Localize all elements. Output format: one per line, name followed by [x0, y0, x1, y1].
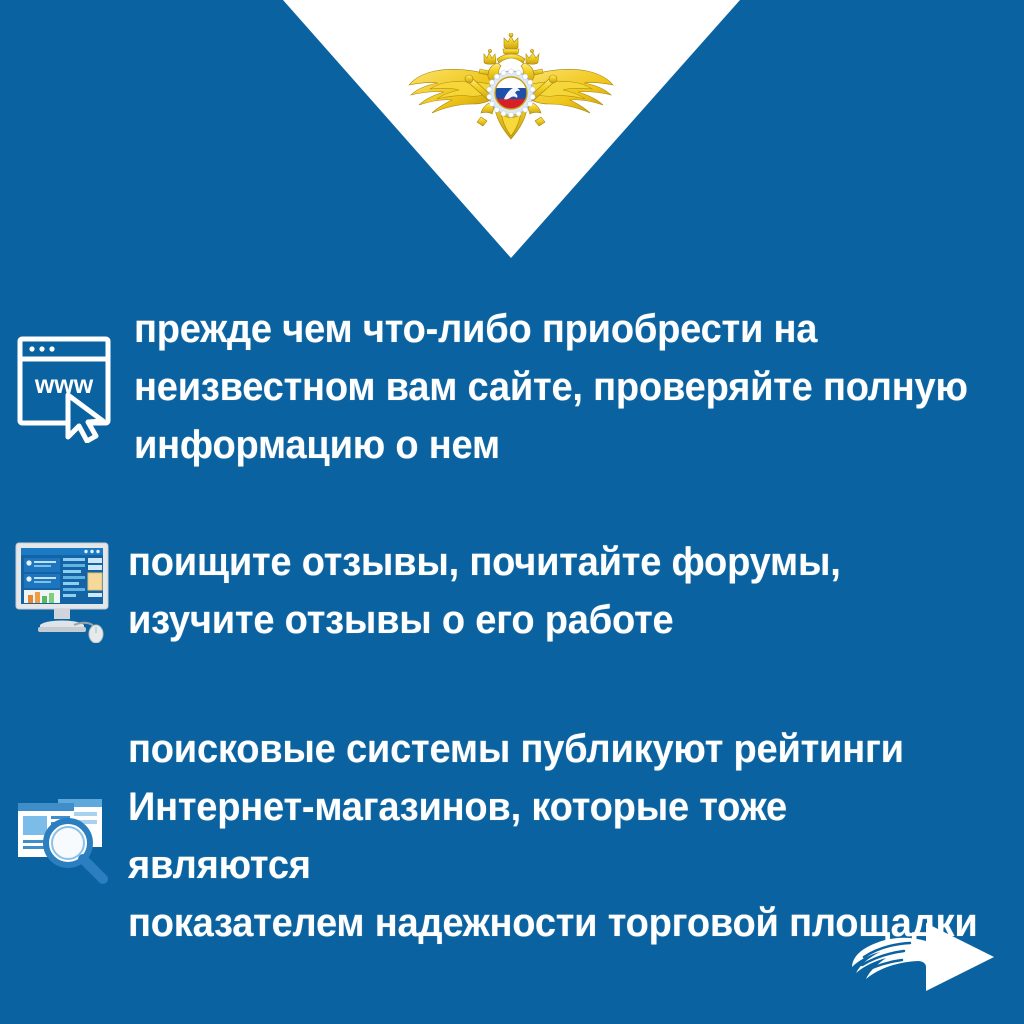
tip-text-2: поищите отзывы, почитайте форумы, изучит… [128, 533, 841, 649]
www-browser-window-cursor-icon: www [10, 331, 122, 443]
tip-row-1: www прежде чем что-либо приобрести на не… [0, 300, 1024, 474]
www-label: www [34, 371, 94, 399]
tip-row-2: поищите отзывы, почитайте форумы, изучит… [0, 533, 1024, 649]
mvd-emblem-icon [405, 33, 617, 148]
swipe-next-arrow-icon[interactable] [848, 905, 1008, 1010]
desktop-monitor-reviews-icon [14, 539, 114, 643]
tip-text-1: прежде чем что-либо приобрести на неизве… [134, 300, 968, 474]
poster-canvas: www прежде чем что-либо приобрести на не… [0, 0, 1024, 1024]
magnifier-over-web-pages-icon [6, 781, 116, 891]
